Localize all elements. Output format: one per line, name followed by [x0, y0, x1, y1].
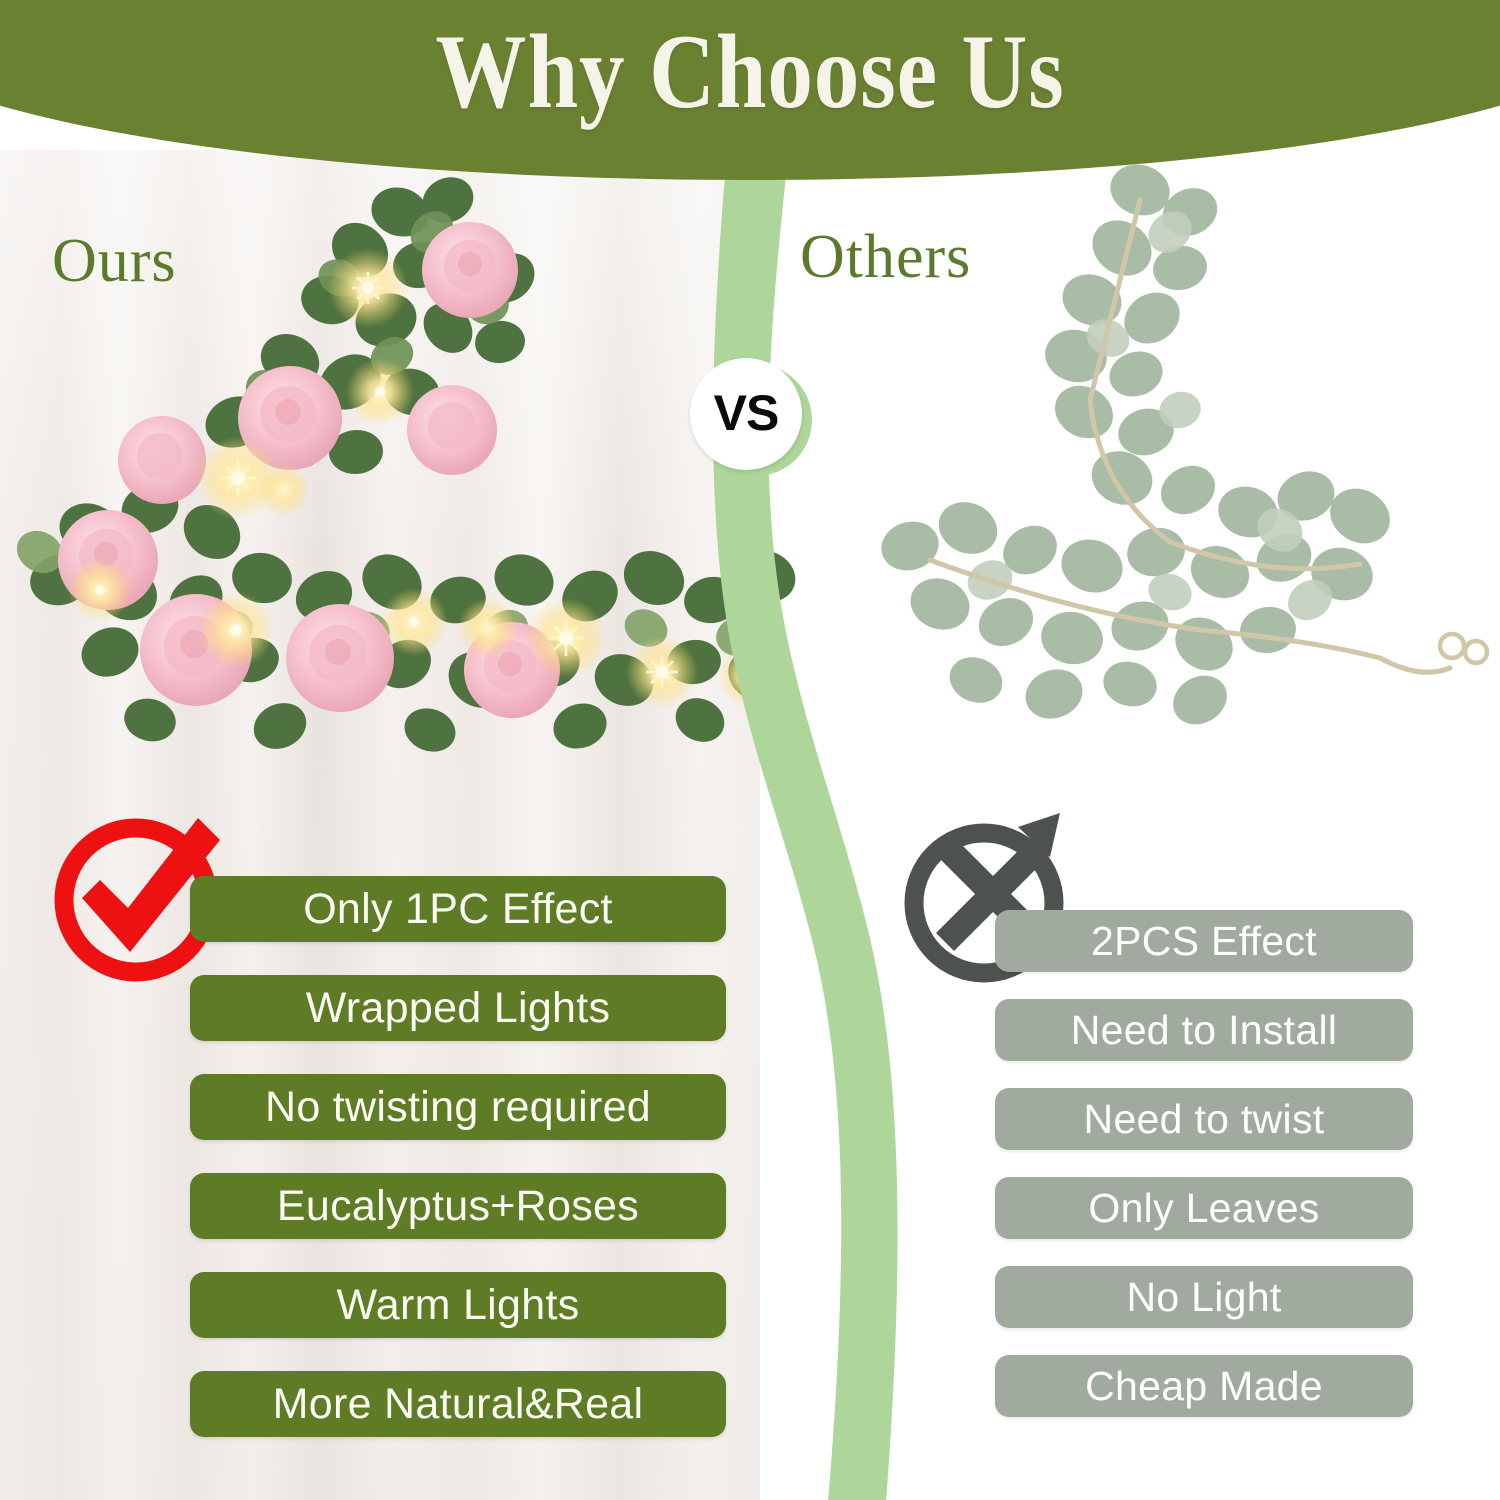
list-item[interactable]: Need to twist	[995, 1088, 1413, 1150]
ours-feature-list: Only 1PC Effect Wrapped Lights No twisti…	[190, 876, 726, 1437]
list-item[interactable]: Only Leaves	[995, 1177, 1413, 1239]
list-item[interactable]: Eucalyptus+Roses	[190, 1173, 726, 1239]
list-item[interactable]: No twisting required	[190, 1074, 726, 1140]
others-label: Others	[800, 222, 971, 293]
list-item[interactable]: No Light	[995, 1266, 1413, 1328]
vs-label: VS	[714, 384, 779, 442]
page-title: Why Choose Us	[105, 16, 1395, 127]
list-item[interactable]: Only 1PC Effect	[190, 876, 726, 942]
infographic-canvas: Why Choose Us Ours Others VS Only 1PC Ef…	[0, 0, 1500, 1500]
header-banner: Why Choose Us	[0, 0, 1500, 230]
list-item[interactable]: Warm Lights	[190, 1272, 726, 1338]
vs-circle: VS	[690, 358, 802, 470]
ours-label: Ours	[52, 226, 177, 297]
list-item[interactable]: Cheap Made	[995, 1355, 1413, 1417]
list-item[interactable]: 2PCS Effect	[995, 910, 1413, 972]
list-item[interactable]: Wrapped Lights	[190, 975, 726, 1041]
list-item[interactable]: More Natural&Real	[190, 1371, 726, 1437]
others-feature-list: 2PCS Effect Need to Install Need to twis…	[995, 910, 1413, 1417]
vs-badge: VS	[686, 358, 826, 478]
list-item[interactable]: Need to Install	[995, 999, 1413, 1061]
